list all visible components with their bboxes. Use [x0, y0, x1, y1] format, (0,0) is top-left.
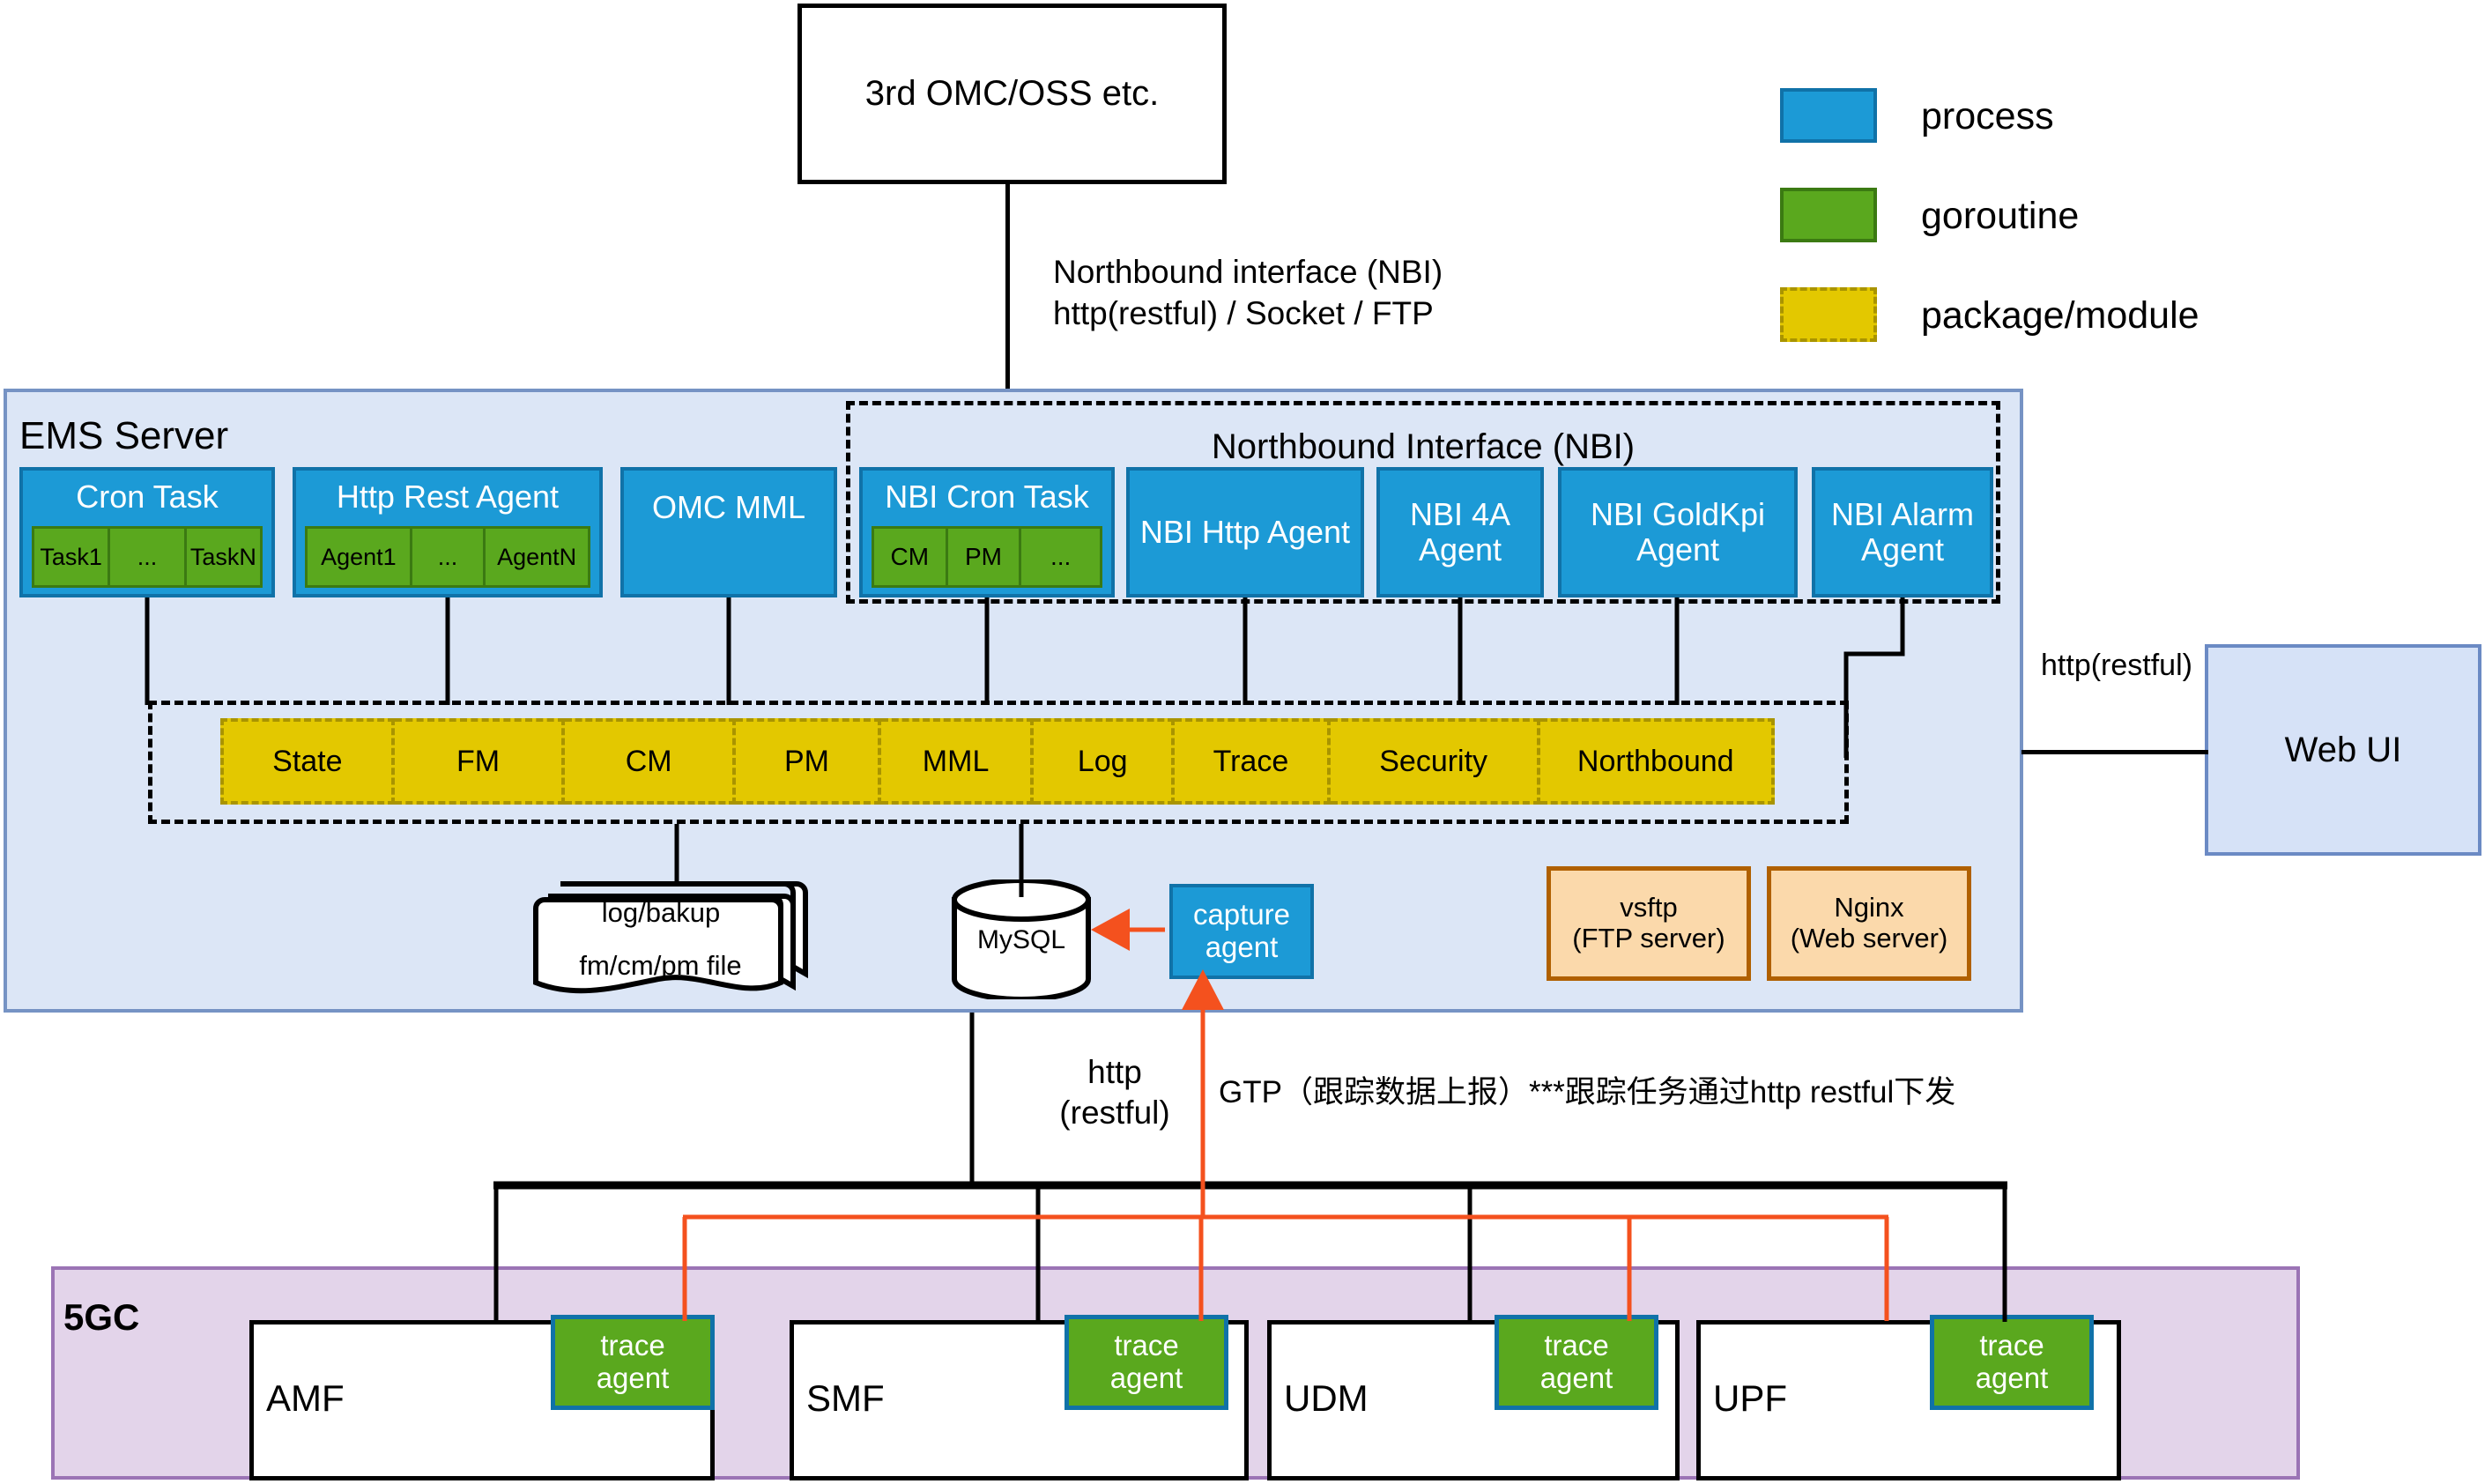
- ems-to-5gc-http-label: http (restful): [1031, 1052, 1198, 1134]
- legend: process goroutine package/module: [1780, 88, 2397, 326]
- trace-agent-udm[interactable]: trace agent: [1495, 1315, 1658, 1410]
- goroutine-item[interactable]: Agent1: [305, 526, 412, 588]
- process-nbi-http-agent-label: NBI Http Agent: [1140, 515, 1350, 550]
- goroutine-item[interactable]: TaskN: [187, 526, 263, 588]
- web-ui-link-line2: (restful): [2091, 648, 2192, 684]
- cron-task-goroutines: Task1 ... TaskN: [32, 526, 263, 588]
- nginx-line1: Nginx: [1834, 892, 1903, 923]
- nbi-link-label: Northbound interface (NBI) http(restful)…: [1053, 251, 1617, 335]
- process-nbi-4a-agent[interactable]: NBI 4A Agent: [1376, 467, 1544, 597]
- trace-agent-smf-label: trace agent: [1110, 1330, 1183, 1395]
- trace-agent-line2: agent: [597, 1362, 670, 1394]
- process-cron-task[interactable]: Cron Task Task1 ... TaskN: [19, 467, 275, 597]
- ems-to-5gc-http-line1: http: [1031, 1052, 1198, 1093]
- vsftp-label: vsftp (FTP server): [1572, 893, 1725, 953]
- legend-label-package-module: package/module: [1921, 294, 2199, 338]
- nf-label-upf: UPF: [1713, 1377, 1787, 1420]
- module-trace[interactable]: Trace: [1175, 718, 1331, 805]
- process-capture-agent[interactable]: capture agent: [1169, 884, 1314, 979]
- web-ui-label: Web UI: [2285, 731, 2402, 770]
- process-http-rest-agent-label: Http Rest Agent: [296, 471, 599, 523]
- gtp-note-label: GTP（跟踪数据上报）***跟踪任务通过http restful下发: [1219, 1067, 2109, 1112]
- legend-swatch-goroutine: [1780, 188, 1877, 242]
- vsftp-server-box: vsftp (FTP server): [1547, 866, 1751, 981]
- module-northbound[interactable]: Northbound: [1540, 718, 1776, 805]
- trace-agent-amf-label: trace agent: [597, 1330, 670, 1395]
- trace-agent-amf[interactable]: trace agent: [551, 1315, 715, 1410]
- trace-agent-udm-label: trace agent: [1540, 1330, 1613, 1395]
- goroutine-item[interactable]: PM: [948, 526, 1022, 588]
- goroutine-item[interactable]: ...: [110, 526, 186, 588]
- nginx-line2: (Web server): [1791, 923, 1948, 953]
- trace-agent-line1: trace: [600, 1329, 664, 1362]
- nbi-link-line1: Northbound interface (NBI): [1053, 251, 1617, 293]
- file-store-label-line1: log/bakup: [546, 897, 775, 929]
- nf-label-udm: UDM: [1284, 1377, 1369, 1420]
- process-cron-task-label: Cron Task: [23, 471, 271, 523]
- http-rest-agent-goroutines: Agent1 ... AgentN: [305, 526, 590, 588]
- goroutine-item[interactable]: ...: [412, 526, 486, 588]
- module-cm[interactable]: CM: [565, 718, 736, 805]
- nbi-link-line2: http(restful) / Socket / FTP: [1053, 293, 1617, 334]
- process-nbi-cron-task-label: NBI Cron Task: [863, 471, 1111, 523]
- process-http-rest-agent[interactable]: Http Rest Agent Agent1 ... AgentN: [293, 467, 603, 597]
- goroutine-item[interactable]: Task1: [32, 526, 110, 588]
- legend-label-goroutine: goroutine: [1921, 195, 2079, 238]
- module-bar: State FM CM PM MML Log Trace Security No…: [220, 718, 1775, 805]
- trace-agent-upf-label: trace agent: [1976, 1330, 2049, 1395]
- capture-agent-line1: capture: [1193, 898, 1290, 931]
- mysql-database-label: MySQL: [950, 925, 1093, 955]
- trace-agent-line2: agent: [1110, 1362, 1183, 1394]
- goroutine-item[interactable]: ...: [1021, 526, 1102, 588]
- vsftp-line2: (FTP server): [1572, 923, 1725, 953]
- ems-to-5gc-http-line2: (restful): [1031, 1093, 1198, 1133]
- trace-agent-line2: agent: [1540, 1362, 1613, 1394]
- module-fm[interactable]: FM: [395, 718, 566, 805]
- web-ui-link-label: http (restful): [2029, 648, 2205, 684]
- trace-agent-line1: trace: [1544, 1329, 1608, 1362]
- legend-label-process: process: [1921, 95, 2054, 138]
- process-nbi-http-agent[interactable]: NBI Http Agent: [1126, 467, 1364, 597]
- third-party-omc-oss-box: 3rd OMC/OSS etc.: [797, 4, 1227, 184]
- capture-agent-line2: agent: [1205, 931, 1279, 963]
- nginx-server-box: Nginx (Web server): [1767, 866, 1971, 981]
- third-party-omc-oss-label: 3rd OMC/OSS etc.: [865, 74, 1159, 114]
- vsftp-line1: vsftp: [1620, 892, 1677, 923]
- fivegc-title: 5GC: [63, 1296, 139, 1339]
- process-nbi-goldkpi-agent[interactable]: NBI GoldKpi Agent: [1558, 467, 1798, 597]
- module-pm[interactable]: PM: [736, 718, 881, 805]
- legend-swatch-package-module: [1780, 287, 1877, 342]
- module-state[interactable]: State: [220, 718, 395, 805]
- process-nbi-alarm-agent[interactable]: NBI Alarm Agent: [1812, 467, 1993, 597]
- process-omc-mml[interactable]: OMC MML: [620, 467, 837, 597]
- trace-agent-line1: trace: [1979, 1329, 2044, 1362]
- web-ui-box[interactable]: Web UI: [2205, 644, 2481, 856]
- module-security[interactable]: Security: [1331, 718, 1540, 805]
- capture-agent-label: capture agent: [1193, 899, 1290, 964]
- trace-agent-smf[interactable]: trace agent: [1064, 1315, 1228, 1410]
- process-nbi-cron-task[interactable]: NBI Cron Task CM PM ...: [859, 467, 1115, 597]
- process-nbi-alarm-agent-label: NBI Alarm Agent: [1819, 497, 1986, 568]
- nbi-group-title: Northbound Interface (NBI): [934, 427, 1912, 467]
- goroutine-item[interactable]: CM: [872, 526, 948, 588]
- web-ui-link-line1: http: [2041, 648, 2091, 684]
- ems-server-title: EMS Server: [19, 414, 228, 458]
- module-mml[interactable]: MML: [881, 718, 1034, 805]
- oss-to-ems-connector: [1005, 184, 1010, 389]
- nginx-label: Nginx (Web server): [1791, 893, 1948, 953]
- process-nbi-goldkpi-agent-label: NBI GoldKpi Agent: [1567, 497, 1789, 568]
- process-omc-mml-label: OMC MML: [652, 490, 805, 525]
- goroutine-item[interactable]: AgentN: [486, 526, 590, 588]
- legend-swatch-process: [1780, 88, 1877, 143]
- file-store-label-line2: fm/cm/pm file: [539, 950, 782, 982]
- module-log[interactable]: Log: [1034, 718, 1175, 805]
- process-nbi-4a-agent-label: NBI 4A Agent: [1387, 497, 1533, 568]
- nf-label-smf: SMF: [806, 1377, 885, 1420]
- trace-agent-upf[interactable]: trace agent: [1930, 1315, 2094, 1410]
- nbi-cron-task-goroutines: CM PM ...: [872, 526, 1102, 588]
- ems-to-webui-connector: [2021, 750, 2208, 754]
- nf-label-amf: AMF: [266, 1377, 345, 1420]
- trace-agent-line1: trace: [1114, 1329, 1178, 1362]
- trace-agent-line2: agent: [1976, 1362, 2049, 1394]
